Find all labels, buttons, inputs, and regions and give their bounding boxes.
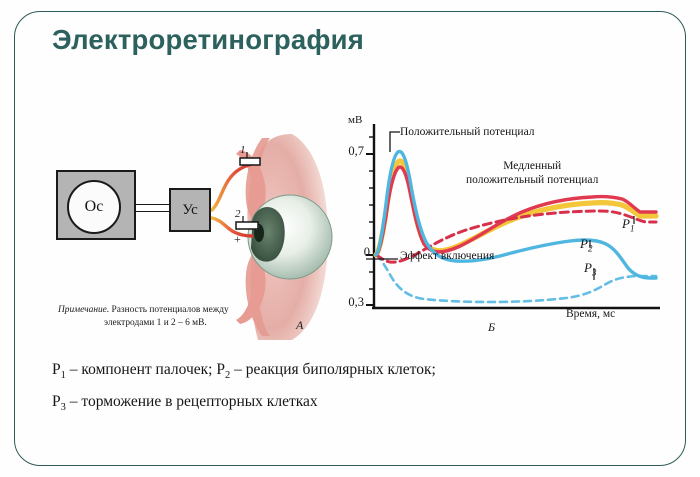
electrode-2-icon (236, 222, 258, 229)
apparatus-note: Примечание. Разность потенциалов между э… (58, 304, 318, 329)
oscilloscope-amplifier-cable (136, 204, 170, 212)
annotation-slow-line-1: Медленный (466, 160, 598, 174)
figure-caption: P1 – компонент палочек; P2 – реакция бип… (52, 355, 652, 418)
y-tick-label-0-3: 0,3 (338, 295, 364, 310)
electrode-1-icon (240, 158, 260, 165)
y-tick-label-0: 0 (344, 245, 370, 260)
electrode-2-polarity-sign: + (234, 232, 241, 247)
curve-label-p1: P1 (622, 216, 634, 234)
erg-chart-panel: мВ 0,7 0 0,3 Время, мс Положительный пот… (338, 112, 664, 344)
caption-line-1: P1 – компонент палочек; P2 – реакция бип… (52, 355, 652, 387)
amplifier-box: Ус (169, 188, 211, 232)
electrode-2-number: 2 (235, 208, 241, 220)
amplifier-label: Ус (182, 203, 197, 218)
electrode-1-number: 1 (240, 144, 246, 156)
panel-b-letter: Б (488, 320, 495, 335)
annotation-positive-potential: Положительный потенциал (400, 126, 535, 140)
y-tick-label-0-7: 0,7 (338, 144, 364, 159)
y-axis-major-ticks (366, 154, 374, 305)
positive-potential-leader (390, 132, 400, 152)
oscilloscope-box: Ос (56, 170, 136, 240)
x-axis-label: Время, мс (566, 308, 615, 320)
annotation-slow-line-2: положительный потенциал (466, 174, 598, 188)
note-line-2: электродами 1 и 2 – 6 мВ. (104, 317, 318, 330)
page-title: Электроретинография (52, 24, 364, 56)
apparatus-diagram-panel: Ос Ус 1 2 + Примечание. Разность потенци… (44, 132, 344, 344)
note-line-1: Разность потенциалов между (112, 305, 229, 315)
annotation-onset-effect: Эффект включения (400, 250, 494, 264)
y-axis-unit-label: мВ (348, 114, 362, 126)
oscilloscope-label: Ос (85, 199, 104, 215)
oscilloscope-screen: Ос (67, 180, 121, 234)
caption-line-2: P3 – торможение в рецепторных клетках (52, 387, 652, 419)
note-prefix: Примечание. (58, 305, 109, 315)
slide-canvas: Электроретинография (0, 0, 700, 477)
panel-a-letter: А (296, 318, 303, 333)
annotation-slow-positive-potential: Медленный положительный потенциал (466, 160, 598, 188)
curve-label-p3: P3 (584, 260, 596, 278)
curve-label-p2: P2 (580, 236, 592, 254)
